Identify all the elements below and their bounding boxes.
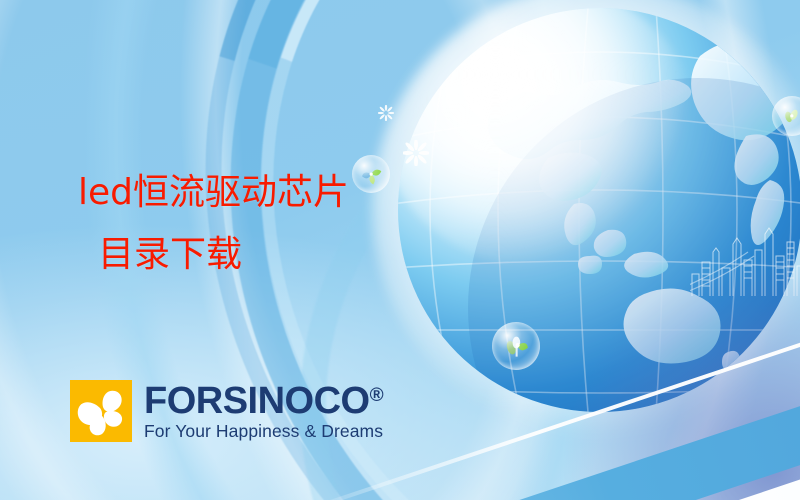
headline-line-1: led恒流驱动芯片 [78,162,498,224]
brand-name: FORSINOCO® [144,382,383,420]
promo-banner: led恒流驱动芯片 目录下载 FORSINOCO® For Your Happi… [0,0,800,500]
corner-violet-glow [500,270,800,500]
pinwheel-icon [501,331,532,362]
headline: led恒流驱动芯片 目录下载 [78,162,498,286]
forsinoco-pinwheel-mark-icon [70,380,132,442]
pinwheel-petals-icon [70,380,132,442]
brand-name-text: FORSINOCO [144,380,370,422]
brand-logo: FORSINOCO® For Your Happiness & Dreams [70,380,383,442]
registered-trademark-symbol: ® [370,385,384,406]
bubble-pinwheel-2 [492,322,540,370]
brand-tagline: For Your Happiness & Dreams [144,423,383,441]
pinwheel-icon [779,103,800,129]
brand-text-block: FORSINOCO® For Your Happiness & Dreams [144,382,383,441]
sparkle-flower-icon-small [378,105,394,121]
headline-line-2: 目录下载 [78,224,498,286]
